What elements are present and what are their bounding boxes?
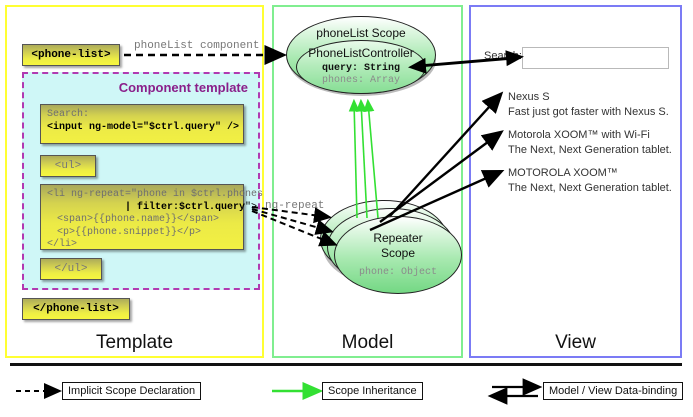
legend-icon-databinding — [492, 387, 538, 396]
phone-snippet: The Next, Next Generation tablet. — [508, 143, 683, 158]
search-input[interactable] — [522, 47, 669, 69]
repeater-scope-label-line2: Scope — [335, 246, 461, 260]
tag-ul-close: </ul> — [40, 258, 102, 280]
controller-phones-prop: phones: Array — [297, 75, 425, 86]
phone-name: Motorola XOOM™ with Wi-Fi — [508, 128, 683, 143]
tag-phone-list-close: </phone-list> — [22, 298, 130, 320]
controller-query-prop: query: String — [297, 63, 425, 74]
code-block-search-input: Search: <input ng-model="$ctrl.query" /> — [40, 104, 244, 144]
code-li-line2-tail: "> — [245, 202, 257, 213]
annotation-ng-repeat: ng-repeat — [265, 200, 324, 212]
code-search-label: Search: — [47, 109, 89, 120]
repeater-scope-ellipse: Repeater Scope phone: Object — [334, 216, 462, 294]
legend-divider — [10, 363, 682, 366]
code-li-line1: <li ng-repeat="phone in $ctrl.phones — [47, 189, 263, 200]
phone-name: MOTOROLA XOOM™ — [508, 166, 683, 181]
controller-label: PhoneListController — [297, 46, 425, 60]
phone-name: Nexus S — [508, 90, 683, 105]
list-item: MOTOROLA XOOM™ The Next, Next Generation… — [508, 166, 683, 196]
tag-ul-open: <ul> — [40, 155, 96, 177]
list-item: Motorola XOOM™ with Wi-Fi The Next, Next… — [508, 128, 683, 158]
bullet-icon — [498, 132, 501, 135]
repeater-phone-prop: phone: Object — [335, 267, 461, 278]
legend-label-databinding: Model / View Data-binding — [543, 382, 683, 400]
repeater-scope-label-line1: Repeater — [335, 231, 461, 245]
code-li-filter: | filter:$ctrl.query — [47, 202, 245, 213]
phonelist-controller-ellipse: PhoneListController query: String phones… — [296, 40, 426, 94]
annotation-phonelist-component: phoneList component — [134, 40, 259, 52]
code-li-span: <span>{{phone.name}}</span> — [47, 214, 219, 225]
panel-title-view: View — [471, 332, 680, 354]
panel-title-template: Template — [7, 332, 262, 354]
tag-phone-list-open: <phone-list> — [22, 44, 120, 66]
legend-label-inheritance: Scope Inheritance — [322, 382, 423, 400]
component-template-title: Component template — [119, 80, 248, 95]
code-input-line: <input ng-model="$ctrl.query" /> — [47, 122, 239, 133]
panel-title-model: Model — [274, 332, 461, 354]
bullet-icon — [498, 94, 501, 97]
list-item: Nexus S Fast just got faster with Nexus … — [508, 90, 683, 120]
view-search-label: Search: — [484, 50, 522, 62]
phone-snippet: The Next, Next Generation tablet. — [508, 181, 683, 196]
phone-snippet: Fast just got faster with Nexus S. — [508, 105, 683, 120]
code-li-close: </li> — [47, 239, 77, 250]
legend-label-implicit: Implicit Scope Declaration — [62, 382, 201, 400]
phonelist-scope-label: phoneList Scope — [287, 26, 435, 40]
code-block-li-repeat: <li ng-repeat="phone in $ctrl.phones | f… — [40, 184, 244, 250]
bullet-icon — [498, 170, 501, 173]
code-li-p: <p>{{phone.snippet}}</p> — [47, 227, 201, 238]
